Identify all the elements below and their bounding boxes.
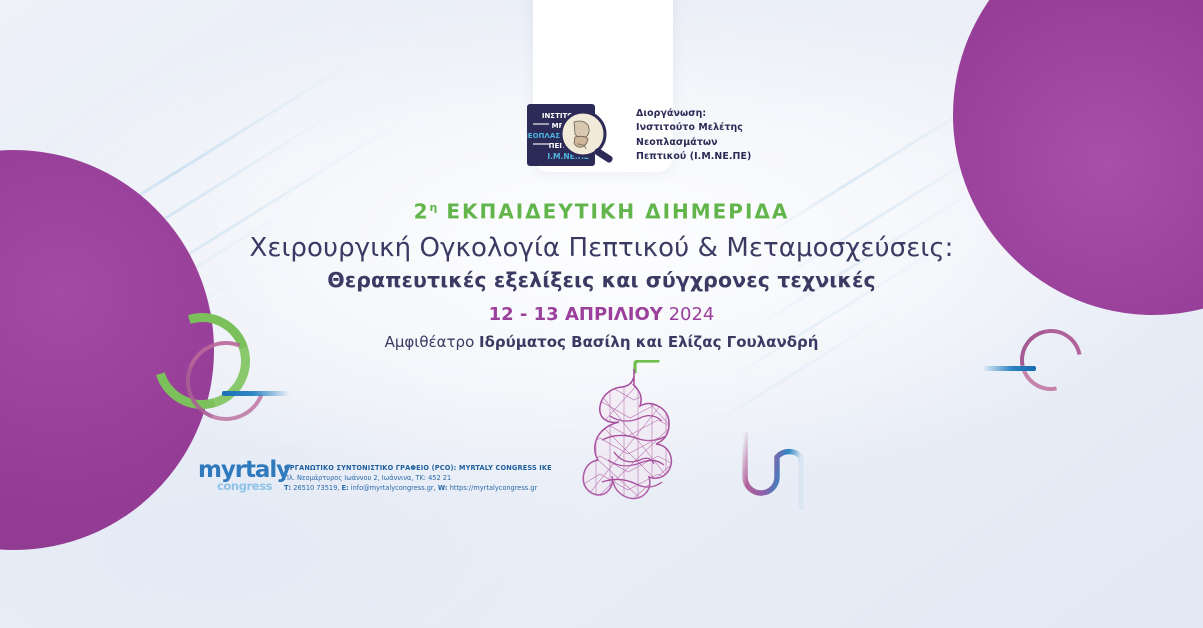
event-date-year: 2024 — [669, 304, 715, 325]
blue-dash-left — [222, 391, 290, 396]
gradient-u-glyph — [738, 432, 808, 510]
kicker-number: 2 — [414, 200, 430, 224]
pco-address: Πλ. Νεομάρτυρος Ιωάννου 2, Ιωάννινα, ΤΚ:… — [284, 473, 552, 483]
venue-prefix: Αμφιθέατρο — [385, 333, 475, 351]
email-value[interactable]: info@myrtalycongress.gr, — [351, 484, 436, 492]
phone-label: Τ: — [284, 484, 291, 492]
venue-name: Ιδρύματος Βασίλη και Ελίζας Γουλανδρή — [479, 333, 818, 351]
imnepe-institute-logo: ΙΝΣΤΙΤΟΥΤΟ ΜΕΛΕΤΗΣ ΝΕΟΠΛΑΣΜΑΤΩΝ ΠΕΠΤΙΚΟΥ… — [527, 104, 619, 170]
kicker-text: ΕΚΠΑΙΔΕΥΤΙΚΗ ΔΙΗΜΕΡΙΔΑ — [446, 200, 789, 224]
organiser-line-2: Νεοπλασμάτων — [636, 136, 751, 150]
event-kicker: 2η ΕΚΠΑΙΔΕΥΤΙΚΗ ΔΙΗΜΕΡΙΔΑ — [0, 196, 1203, 224]
web-value[interactable]: https://myrtalycongress.gr — [450, 484, 538, 492]
web-label: W: — [438, 484, 448, 492]
organiser-line-3: Πεπτικού (Ι.Μ.ΝΕ.ΠΕ) — [636, 150, 751, 164]
phone-value: 26510 73519, — [293, 484, 339, 492]
pco-footer: myrtaly congress ΟΡΓΑΝΩΤΙΚΟ ΣΥΝΤΟΝΙΣΤΙΚΟ… — [198, 458, 552, 498]
organiser-label: Διοργάνωση: — [636, 107, 751, 121]
event-date: 12 - 13 ΑΠΡΙΛΙΟΥ 2024 — [0, 303, 1203, 327]
congress-wordmark: congress — [217, 480, 272, 492]
blue-dash-right — [984, 366, 1036, 371]
title-block: 2η ΕΚΠΑΙΔΕΥΤΙΚΗ ΔΙΗΜΕΡΙΔΑ Χειρουργική Ογ… — [0, 196, 1203, 353]
kicker-ordinal: η — [430, 201, 438, 214]
event-subtitle: Θεραπευτικές εξελίξεις και σύγχρονες τεχ… — [0, 266, 1203, 294]
organiser-text-block: Διοργάνωση: Ινστιτούτο Μελέτης Νεοπλασμά… — [636, 104, 751, 165]
pco-contact-line: Τ: 26510 73519, E: info@myrtalycongress.… — [284, 483, 552, 493]
event-date-range: 12 - 13 ΑΠΡΙΛΙΟΥ — [489, 304, 663, 325]
event-title: Χειρουργική Ογκολογία Πεπτικού & Μεταμοσ… — [0, 230, 1203, 266]
digestive-system-lowpoly-illustration — [572, 360, 698, 520]
myrtaly-congress-logo[interactable]: myrtaly congress — [198, 458, 270, 498]
conference-banner: ΙΝΣΤΙΤΟΥΤΟ ΜΕΛΕΤΗΣ ΝΕΟΠΛΑΣΜΑΤΩΝ ΠΕΠΤΙΚΟΥ… — [0, 0, 1203, 628]
organiser-line-1: Ινστιτούτο Μελέτης — [636, 121, 751, 135]
email-label: E: — [342, 484, 349, 492]
event-venue: Αμφιθέατρο Ιδρύματος Βασίλη και Ελίζας Γ… — [0, 331, 1203, 353]
pco-heading: ΟΡΓΑΝΩΤΙΚΟ ΣΥΝΤΟΝΙΣΤΙΚΟ ΓΡΑΦΕΙΟ (PCO): M… — [284, 463, 552, 473]
pco-contact-block: ΟΡΓΑΝΩΤΙΚΟ ΣΥΝΤΟΝΙΣΤΙΚΟ ΓΡΑΦΕΙΟ (PCO): M… — [284, 463, 552, 494]
organiser-block: ΙΝΣΤΙΤΟΥΤΟ ΜΕΛΕΤΗΣ ΝΕΟΠΛΑΣΜΑΤΩΝ ΠΕΠΤΙΚΟΥ… — [527, 104, 751, 170]
